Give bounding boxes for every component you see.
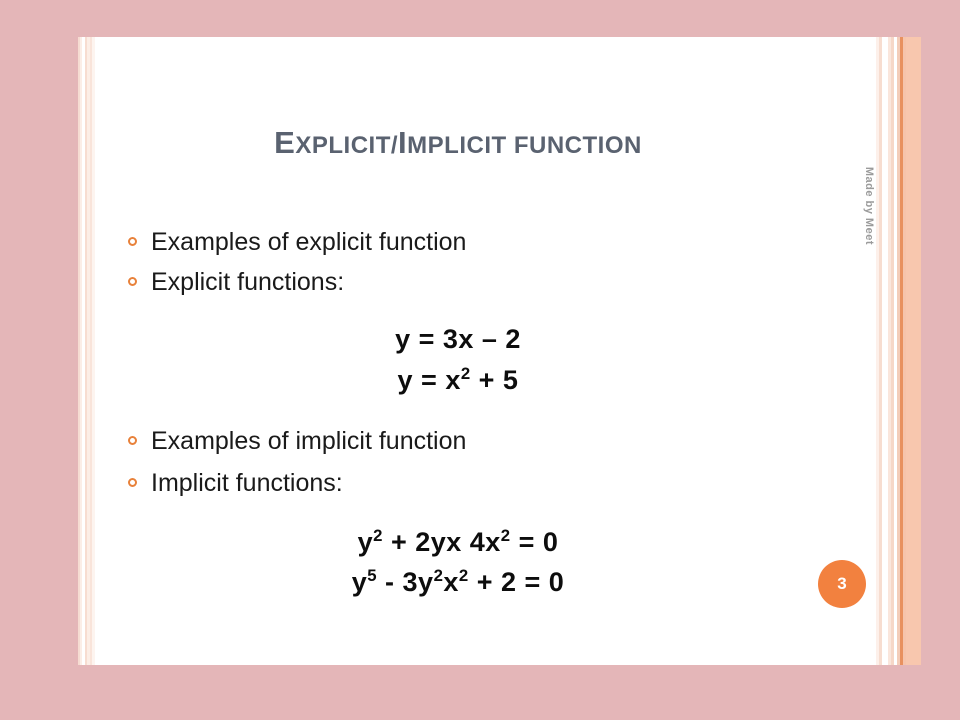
title-segment-6: FUNCTION <box>514 132 642 159</box>
presentation-backdrop: EXPLICIT/IMPLICIT FUNCTION Examples of e… <box>0 0 960 720</box>
circle-outline-bullet-icon <box>128 277 137 286</box>
title-segment-2: / <box>391 132 398 159</box>
right-decorative-stripe-band <box>873 37 921 665</box>
bullet-label: Examples of explicit function <box>151 229 466 257</box>
title-segment-5 <box>507 132 514 159</box>
equation-implicit-2: y5 - 3y2x2 + 2 = 0 <box>78 567 838 598</box>
bullet-item-implicit-functions: Implicit functions: <box>128 470 343 498</box>
bullet-item-explicit-functions: Explicit functions: <box>128 269 344 297</box>
title-segment-0: E <box>274 125 295 160</box>
bullet-label: Explicit functions: <box>151 269 344 297</box>
title-segment-4: MPLICIT <box>407 132 507 159</box>
equation-implicit-1: y2 + 2yx 4x2 = 0 <box>78 527 838 558</box>
circle-outline-bullet-icon <box>128 478 137 487</box>
bullet-label: Implicit functions: <box>151 470 343 498</box>
author-credit: Made by Meet <box>863 167 875 245</box>
equation-explicit-1: y = 3x – 2 <box>78 324 838 355</box>
circle-outline-bullet-icon <box>128 436 137 445</box>
slide-title: EXPLICIT/IMPLICIT FUNCTION <box>78 125 838 161</box>
page-number-badge: 3 <box>818 560 866 608</box>
title-segment-3: I <box>398 125 407 160</box>
slide-canvas: EXPLICIT/IMPLICIT FUNCTION Examples of e… <box>78 37 921 665</box>
page-number-value: 3 <box>837 574 846 594</box>
title-segment-1: XPLICIT <box>295 132 391 159</box>
bullet-label: Examples of implicit function <box>151 428 466 456</box>
equation-explicit-2: y = x2 + 5 <box>78 365 838 396</box>
circle-outline-bullet-icon <box>128 237 137 246</box>
bullet-item-examples-implicit: Examples of implicit function <box>128 428 466 456</box>
bullet-item-examples-explicit: Examples of explicit function <box>128 229 466 257</box>
